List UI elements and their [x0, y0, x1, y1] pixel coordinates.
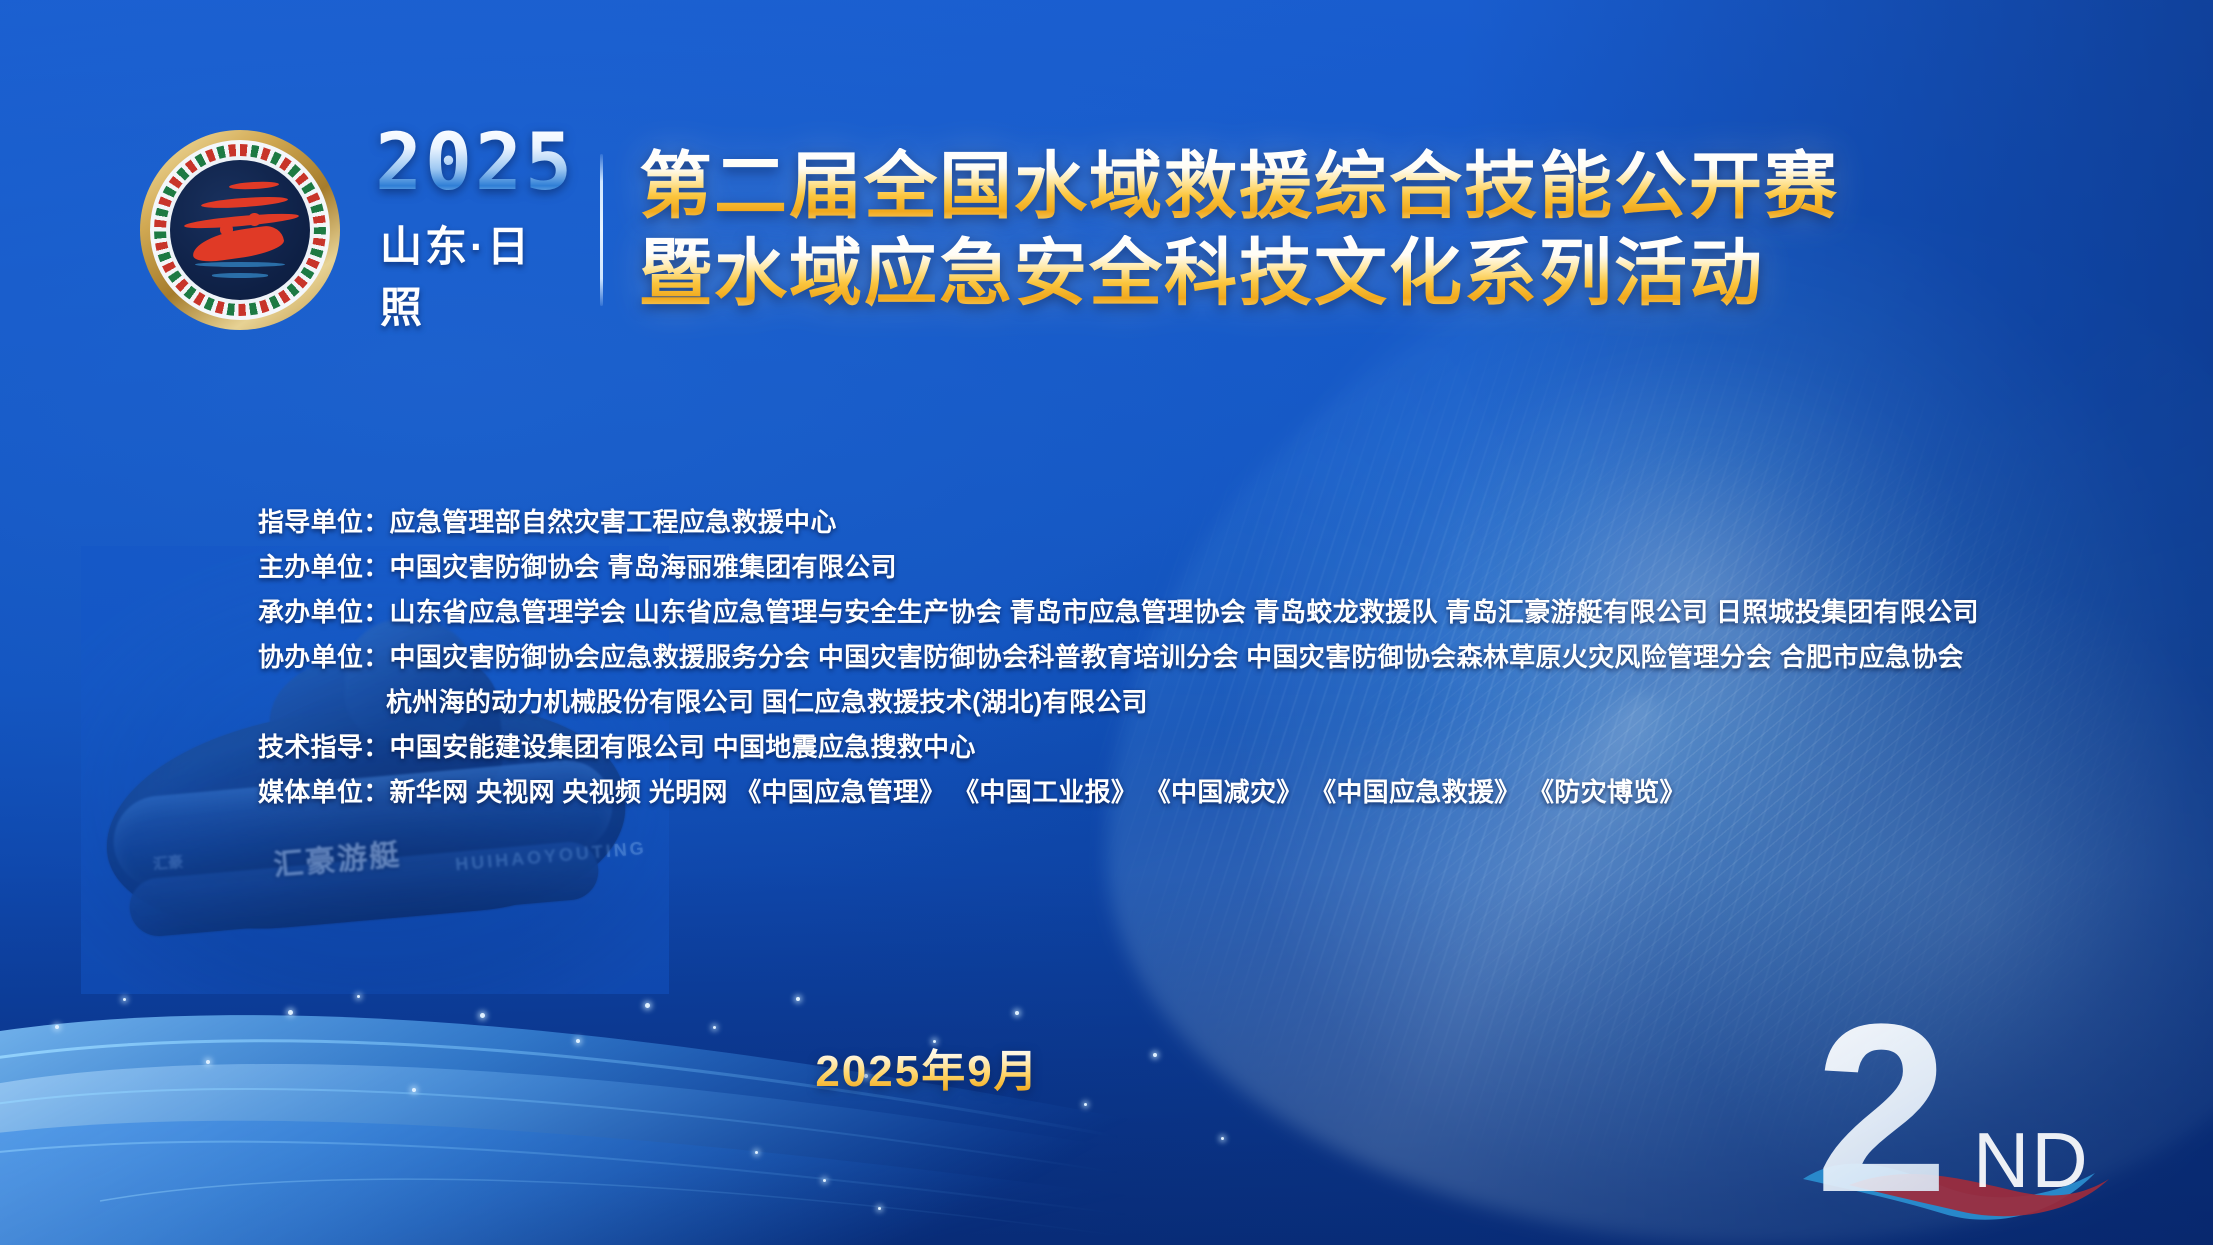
competition-emblem-icon: [140, 130, 340, 330]
org-row: 技术指导： 中国安能建设集团有限公司 中国地震应急搜救中心: [258, 723, 2158, 768]
org-value: 应急管理部自然灾害工程应急救援中心: [390, 502, 837, 539]
org-label: 主办单位：: [258, 547, 390, 584]
event-date: 2025年9月: [0, 1035, 1855, 1099]
poster-canvas: 汇豪 汇豪游艇 HUIHAOYOUTING: [0, 0, 2213, 1245]
year-label: 2025: [375, 125, 575, 201]
title-line-2: 暨水域应急安全科技文化系列活动: [639, 235, 1839, 312]
edition-numeral: 2: [1815, 974, 1948, 1223]
org-row: 承办单位： 山东省应急管理学会 山东省应急管理与安全生产协会 青岛市应急管理协会…: [258, 588, 2158, 633]
org-label: 媒体单位：: [258, 772, 390, 809]
edition-suffix: ND: [1973, 1116, 2090, 1204]
org-row: 协办单位： 中国灾害防御协会应急救援服务分会 中国灾害防御协会科普教育培训分会 …: [258, 633, 2158, 678]
org-value: 新华网 央视网 央视频 光明网 《中国应急管理》 《中国工业报》 《中国减灾》 …: [390, 772, 1686, 809]
org-value: 中国灾害防御协会 青岛海丽雅集团有限公司: [390, 547, 897, 584]
org-label: 技术指导：: [258, 727, 390, 764]
second-edition-mark: 2 ND: [1795, 973, 2125, 1223]
org-value: 山东省应急管理学会 山东省应急管理与安全生产协会 青岛市应急管理协会 青岛蛟龙救…: [390, 592, 1979, 629]
organization-list: 指导单位： 应急管理部自然灾害工程应急救援中心 主办单位： 中国灾害防御协会 青…: [258, 498, 2158, 813]
org-value: 杭州海的动力机械股份有限公司 国仁应急救援技术(湖北)有限公司: [386, 682, 1148, 719]
title-line-1: 第二届全国水域救援综合技能公开赛: [639, 148, 1839, 225]
title-block: 第二届全国水域救援综合技能公开赛 暨水域应急安全科技文化系列活动: [639, 148, 1839, 313]
org-row: 媒体单位： 新华网 央视网 央视频 光明网 《中国应急管理》 《中国工业报》 《…: [258, 768, 2158, 813]
org-value: 中国安能建设集团有限公司 中国地震应急搜救中心: [390, 727, 976, 764]
org-row-continuation: 杭州海的动力机械股份有限公司 国仁应急救援技术(湖北)有限公司: [258, 678, 2158, 723]
org-row: 指导单位： 应急管理部自然灾害工程应急救援中心: [258, 498, 2158, 543]
org-value: 中国灾害防御协会应急救援服务分会 中国灾害防御协会科普教育培训分会 中国灾害防御…: [390, 637, 1964, 674]
org-label: 指导单位：: [258, 502, 390, 539]
header-divider: [600, 154, 603, 306]
poster-header: 2025 山东·日照 第二届全国水域救援综合技能公开赛 暨水域应急安全科技文化系…: [0, 120, 2213, 340]
org-label: 承办单位：: [258, 592, 390, 629]
city-label: 山东·日照: [380, 213, 570, 335]
org-label: 协办单位：: [258, 637, 390, 674]
emblem-disc: [170, 160, 310, 300]
year-city-block: 2025 山东·日照: [380, 125, 570, 335]
org-row: 主办单位： 中国灾害防御协会 青岛海丽雅集团有限公司: [258, 543, 2158, 588]
